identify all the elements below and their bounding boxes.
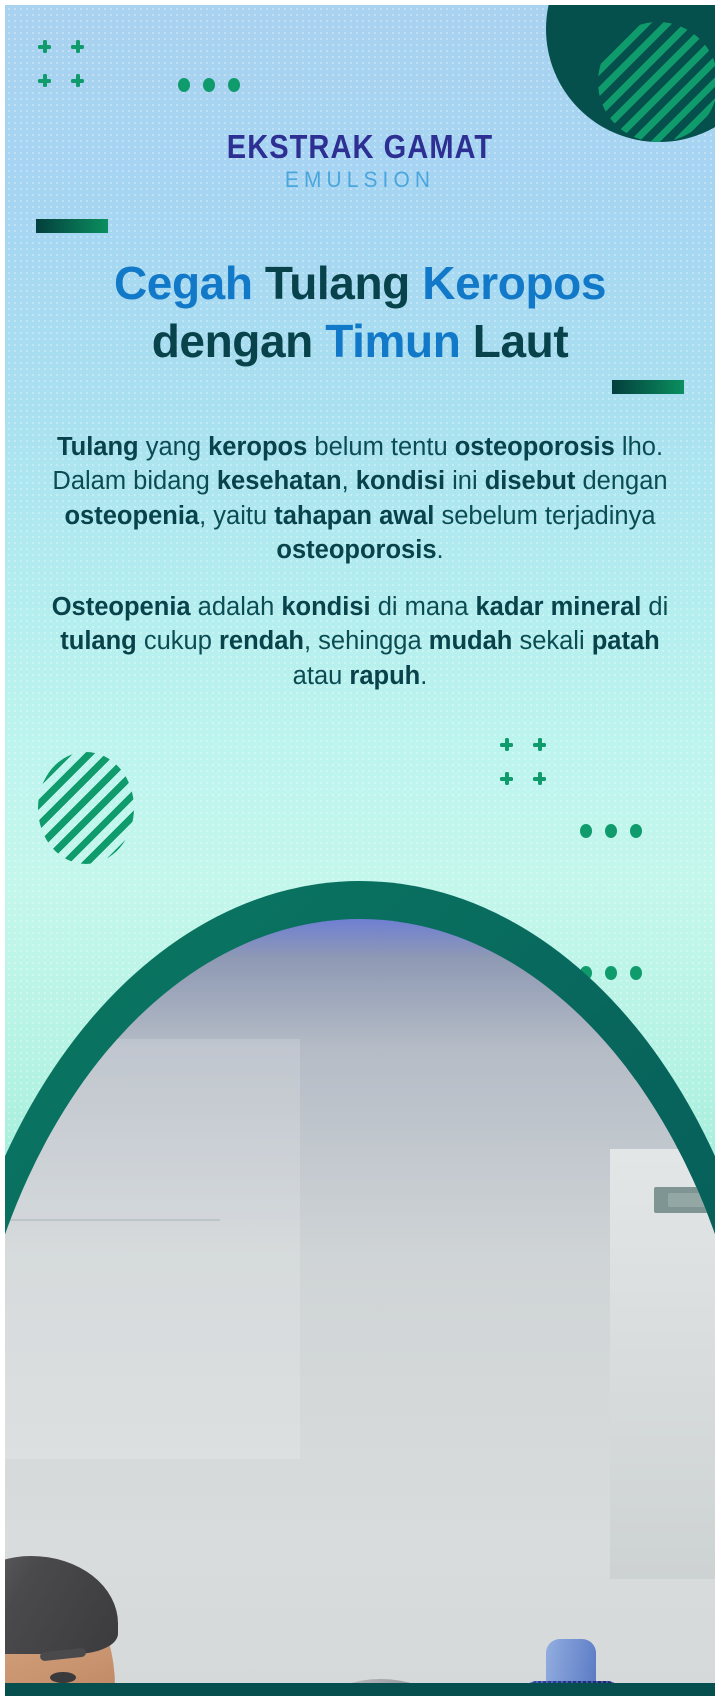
dot-icon bbox=[630, 824, 642, 838]
plus-icon bbox=[500, 738, 513, 751]
striped-circle-icon-left bbox=[38, 752, 134, 864]
headline-word-tulang: Tulang bbox=[265, 257, 422, 309]
rule-bar-right bbox=[612, 380, 684, 394]
body-copy: Tulang yang keropos belum tentu osteopor… bbox=[42, 430, 678, 693]
brand-lockup: EKSTRAK GAMAT EMULSION bbox=[0, 130, 720, 193]
headline-word-keropos: Keropos bbox=[422, 257, 606, 309]
dot-icon bbox=[203, 78, 215, 92]
dot-icon bbox=[580, 824, 592, 838]
photo-mask: EKSTRAK GAMAT EMULSION 350ml bbox=[0, 919, 720, 1701]
plus-icon bbox=[500, 772, 513, 785]
page-title: Cegah Tulang Keropos dengan Timun Laut bbox=[0, 255, 720, 371]
dot-icon bbox=[228, 78, 240, 92]
plus-icon bbox=[533, 738, 546, 751]
bottom-band bbox=[0, 1683, 720, 1701]
plus-icon bbox=[71, 74, 84, 87]
headline-word-laut: Laut bbox=[473, 315, 569, 367]
headline-word-cegah: Cegah bbox=[114, 257, 265, 309]
brand-subtitle: EMULSION bbox=[18, 167, 702, 193]
paragraph-1: Tulang yang keropos belum tentu osteopor… bbox=[42, 430, 678, 568]
dot-icon bbox=[178, 78, 190, 92]
plus-icon bbox=[38, 74, 51, 87]
brand-name: EKSTRAK GAMAT bbox=[43, 130, 677, 165]
poster-canvas: EKSTRAK GAMAT EMULSION Cegah Tulang Kero… bbox=[0, 0, 720, 1701]
plus-icon bbox=[71, 40, 84, 53]
three-dots-icon-mid bbox=[580, 824, 642, 838]
striped-circle-icon-top bbox=[598, 22, 718, 142]
plus-decor-top-left bbox=[38, 40, 98, 100]
rule-bar-left bbox=[36, 219, 108, 233]
doctor-figure bbox=[0, 1519, 250, 1701]
cabinet bbox=[610, 1149, 720, 1579]
wall-panel bbox=[0, 1039, 300, 1459]
plus-decor-mid-right bbox=[500, 738, 560, 798]
wall-line bbox=[0, 1219, 220, 1221]
paragraph-2: Osteopenia adalah kondisi di mana kadar … bbox=[42, 590, 678, 693]
doctor-eye bbox=[50, 1672, 76, 1683]
three-dots-icon-top bbox=[178, 78, 240, 92]
doctor-hair bbox=[0, 1556, 118, 1654]
dot-icon bbox=[605, 824, 617, 838]
plus-icon bbox=[38, 40, 51, 53]
cabinet-handle-inner bbox=[668, 1193, 714, 1207]
plus-icon bbox=[533, 772, 546, 785]
headline-word-dengan: dengan bbox=[152, 315, 326, 367]
clinic-photo: EKSTRAK GAMAT EMULSION 350ml bbox=[0, 919, 720, 1701]
photo-scene: EKSTRAK GAMAT EMULSION 350ml bbox=[0, 861, 720, 1701]
headline-word-timun: Timun bbox=[325, 315, 473, 367]
